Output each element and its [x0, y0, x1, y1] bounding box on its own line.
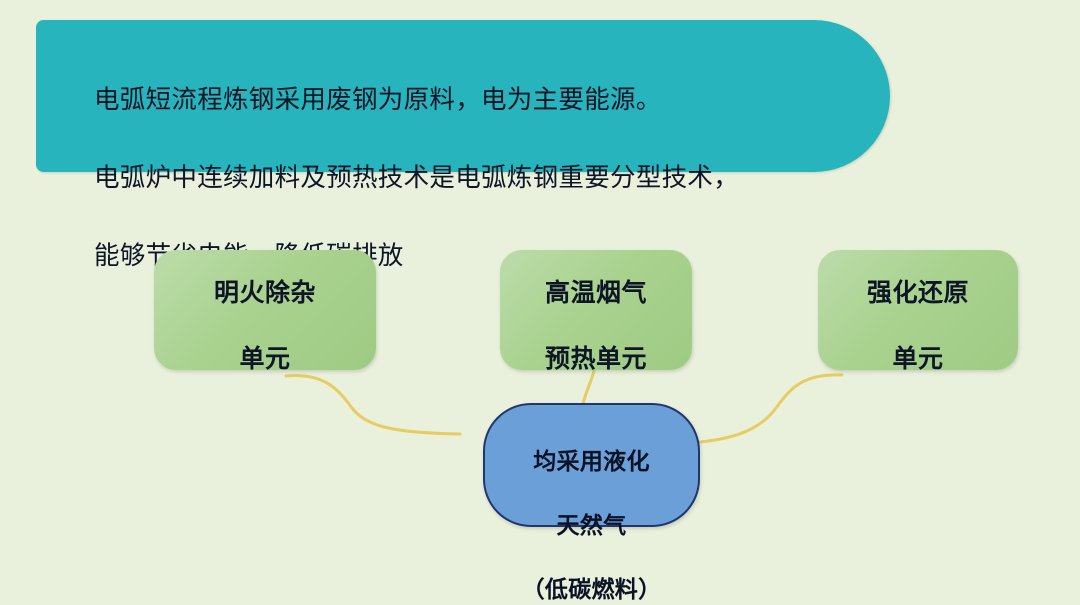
fuel-label-line-1: 均采用液化 [533, 448, 650, 474]
unit-box-label: 明火除杂 单元 [214, 244, 316, 376]
fuel-label-line-3: （低碳燃料） [522, 576, 662, 602]
unit-box-open-flame-impurity-removal[interactable]: 明火除杂 单元 [154, 250, 376, 370]
unit-box-hot-flue-gas-preheating[interactable]: 高温烟气 预热单元 [500, 250, 692, 370]
connector-unit3-to-fuel [700, 375, 842, 442]
slide-canvas: 电弧短流程炼钢采用废钢为原料，电为主要能源。 电弧炉中连续加料及预热技术是电弧炼… [0, 0, 1080, 512]
unit-box-label-line-2: 单元 [239, 345, 290, 373]
liquefied-natural-gas-label: 均采用液化 天然气 （低碳燃料） [522, 413, 662, 605]
summary-banner-line-1: 电弧短流程炼钢采用废钢为原料，电为主要能源。 [94, 81, 854, 120]
summary-banner-line-2: 电弧炉中连续加料及预热技术是电弧炼钢重要分型技术， [94, 159, 854, 198]
unit-box-label-line-2: 预热单元 [545, 345, 647, 373]
liquefied-natural-gas-node[interactable]: 均采用液化 天然气 （低碳燃料） [483, 403, 700, 527]
unit-box-label: 高温烟气 预热单元 [545, 244, 647, 376]
unit-box-label: 强化还原 单元 [867, 244, 969, 376]
unit-box-label-line-1: 强化还原 [867, 279, 969, 307]
unit-box-label-line-2: 单元 [892, 345, 943, 373]
fuel-label-line-2: 天然气 [557, 512, 627, 538]
summary-banner: 电弧短流程炼钢采用废钢为原料，电为主要能源。 电弧炉中连续加料及预热技术是电弧炼… [36, 20, 890, 172]
unit-box-enhanced-reduction[interactable]: 强化还原 单元 [818, 250, 1018, 370]
unit-box-label-line-1: 高温烟气 [545, 279, 647, 307]
unit-box-label-line-1: 明火除杂 [214, 279, 316, 307]
connector-unit1-to-fuel [286, 375, 460, 434]
